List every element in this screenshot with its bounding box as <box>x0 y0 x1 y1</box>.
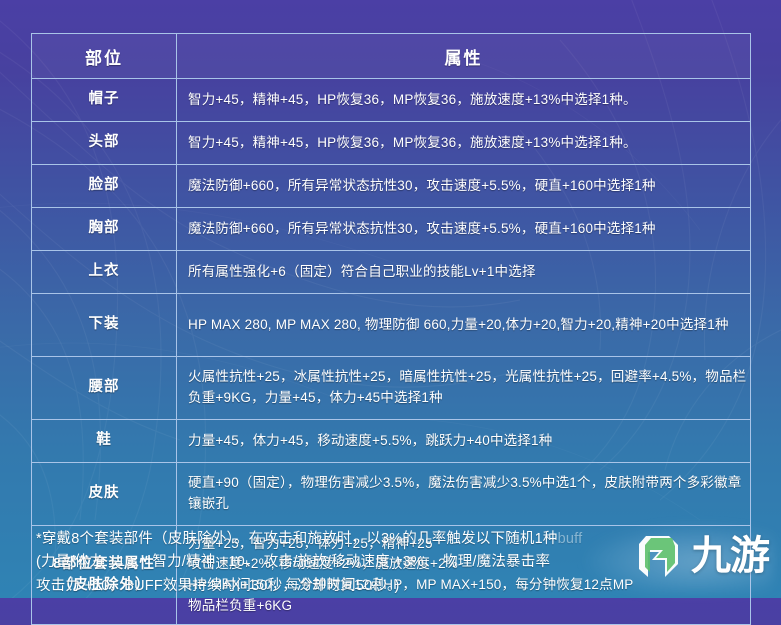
cell-part: 下装 <box>32 294 177 357</box>
table-row: 脸部魔法防御+660，所有异常状态抗性30，攻击速度+5.5%，硬直+160中选… <box>32 165 751 208</box>
column-header-attribute: 属性 <box>177 34 751 79</box>
cell-attribute: HP MAX 280, MP MAX 280, 物理防御 660,力量+20,体… <box>177 294 751 357</box>
table-row: 下装HP MAX 280, MP MAX 280, 物理防御 660,力量+20… <box>32 294 751 357</box>
cell-attribute: 硬直+90（固定），物理伤害减少3.5%，魔法伤害减少3.5%中选1个，皮肤附带… <box>177 463 751 526</box>
footnote-line-3: 攻击力 +10，BUFF效果持续时间30秒，冷却时间50秒。) <box>36 578 400 594</box>
cell-part: 鞋 <box>32 420 177 463</box>
footnote-line-1-faded: buff <box>558 531 583 547</box>
table-row: 上衣所有属性强化+6（固定）符合自己职业的技能Lv+1中选择 <box>32 251 751 294</box>
cell-attribute: 魔法防御+660，所有异常状态抗性30，攻击速度+5.5%，硬直+160中选择1… <box>177 208 751 251</box>
footnote: *穿戴8个套装部件（皮肤除外）。在攻击和施放时，以3%的几率触发以下随机1种bu… <box>36 528 736 598</box>
table-row: 胸部魔法防御+660，所有异常状态抗性30，攻击速度+5.5%，硬直+160中选… <box>32 208 751 251</box>
cell-part: 皮肤 <box>32 463 177 526</box>
table-row: 鞋力量+45，体力+45，移动速度+5.5%，跳跃力+40中选择1种 <box>32 420 751 463</box>
cell-part: 帽子 <box>32 79 177 122</box>
cell-part: 胸部 <box>32 208 177 251</box>
cell-attribute: 智力+45，精神+45，HP恢复36，MP恢复36，施放速度+13%中选择1种。 <box>177 79 751 122</box>
cell-part: 腰部 <box>32 357 177 420</box>
attribute-sheet: 部位 属性 帽子智力+45，精神+45，HP恢复36，MP恢复36，施放速度+1… <box>0 0 781 598</box>
cell-attribute: 智力+45，精神+45，HP恢复36，MP恢复36，施放速度+13%中选择1种。 <box>177 122 751 165</box>
table-row: 皮肤硬直+90（固定），物理伤害减少3.5%，魔法伤害减少3.5%中选1个，皮肤… <box>32 463 751 526</box>
cell-part: 上衣 <box>32 251 177 294</box>
column-header-part: 部位 <box>32 34 177 79</box>
cell-part: 头部 <box>32 122 177 165</box>
table-header-row: 部位 属性 <box>32 34 751 79</box>
cell-attribute: 力量+45，体力+45，移动速度+5.5%，跳跃力+40中选择1种 <box>177 420 751 463</box>
cell-attribute: 所有属性强化+6（固定）符合自己职业的技能Lv+1中选择 <box>177 251 751 294</box>
table-row: 腰部火属性抗性+25，冰属性抗性+25，暗属性抗性+25，光属性抗性+25，回避… <box>32 357 751 420</box>
cell-attribute: 火属性抗性+25，冰属性抗性+25，暗属性抗性+25，光属性抗性+25，回避率+… <box>177 357 751 420</box>
cell-part: 脸部 <box>32 165 177 208</box>
footnote-line-1: *穿戴8个套装部件（皮肤除外）。在攻击和施放时，以3%的几率触发以下随机1种 <box>36 531 558 547</box>
footnote-line-2: (力量/体力 +10、 智力/精神 +10、 攻击/施放/移动速度 +3%、 物… <box>36 554 550 570</box>
table-row: 帽子智力+45，精神+45，HP恢复36，MP恢复36，施放速度+13%中选择1… <box>32 79 751 122</box>
table-row: 头部智力+45，精神+45，HP恢复36，MP恢复36，施放速度+13%中选择1… <box>32 122 751 165</box>
cell-attribute: 魔法防御+660，所有异常状态抗性30，攻击速度+5.5%，硬直+160中选择1… <box>177 165 751 208</box>
